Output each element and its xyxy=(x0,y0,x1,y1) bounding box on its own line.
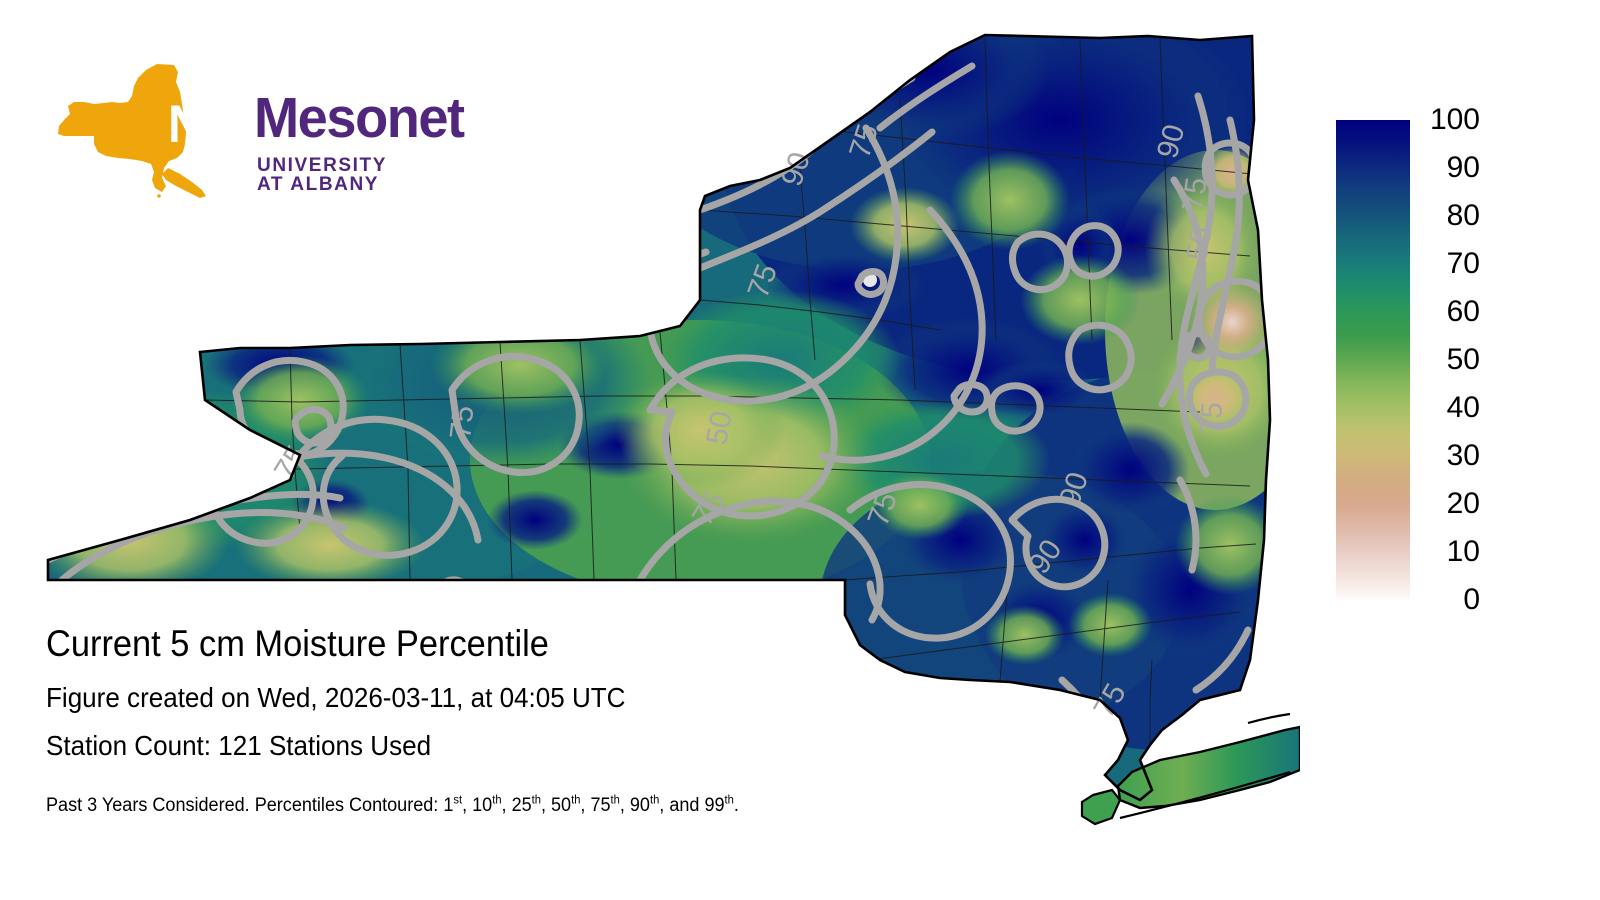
colorbar-gradient xyxy=(1336,120,1410,600)
percentile-colorbar xyxy=(1336,120,1410,600)
figure-created-text: Figure created on Wed, 2026-03-11, at 04… xyxy=(46,684,976,712)
nys-mesonet-logo: NYS Mesonet UNIVERSITY AT ALBANY xyxy=(56,62,406,210)
colorbar-tick-10: 10 xyxy=(1447,537,1480,567)
svg-text:75: 75 xyxy=(1176,175,1213,213)
page-title: Current 5 cm Moisture Percentile xyxy=(46,625,976,662)
svg-text:75: 75 xyxy=(444,404,480,441)
svg-text:50: 50 xyxy=(700,409,738,448)
colorbar-tick-70: 70 xyxy=(1447,249,1480,279)
colorbar-tick-labels: 1009080706050403020100 xyxy=(1418,120,1480,600)
colorbar-tick-30: 30 xyxy=(1447,441,1480,471)
logo-nys-text: NYS xyxy=(168,98,266,151)
colorbar-tick-80: 80 xyxy=(1447,201,1480,231)
colorbar-tick-100: 100 xyxy=(1430,105,1480,135)
colorbar-tick-40: 40 xyxy=(1447,393,1480,423)
caption-block: Current 5 cm Moisture Percentile Figure … xyxy=(46,625,1046,815)
colorbar-tick-20: 20 xyxy=(1447,489,1480,519)
logo-university-text: UNIVERSITY AT ALBANY xyxy=(257,156,406,194)
svg-text:50: 50 xyxy=(1180,225,1218,264)
colorbar-tick-60: 60 xyxy=(1447,297,1480,327)
logo-mesonet-text: Mesonet xyxy=(254,90,464,147)
station-count-text: Station Count: 121 Stations Used xyxy=(46,732,976,760)
colorbar-tick-0: 0 xyxy=(1463,585,1480,615)
contour-note-text: Past 3 Years Considered. Percentiles Con… xyxy=(46,796,996,815)
colorbar-tick-50: 50 xyxy=(1447,345,1480,375)
svg-text:75: 75 xyxy=(1194,401,1229,437)
colorbar-tick-90: 90 xyxy=(1447,153,1480,183)
